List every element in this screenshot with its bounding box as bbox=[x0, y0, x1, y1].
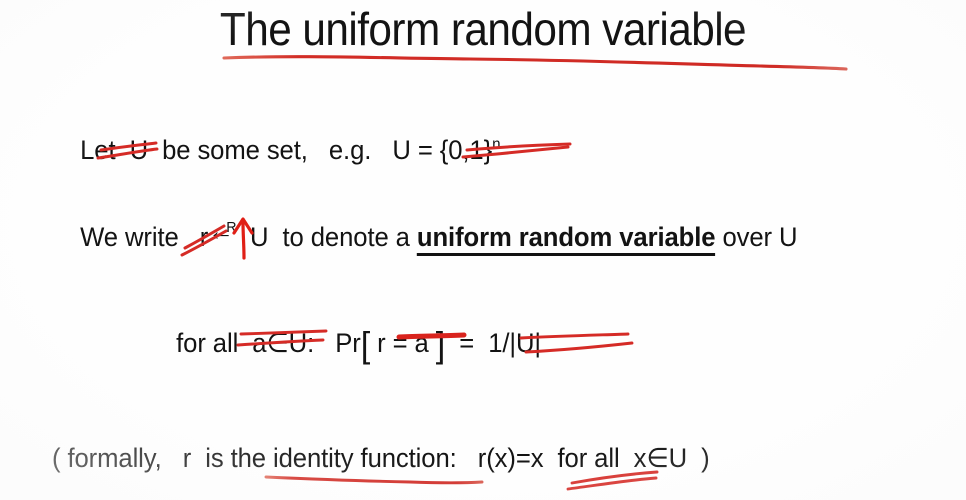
line3-value: 1/|U| bbox=[488, 328, 541, 358]
line3-probability-operator: Pr bbox=[335, 328, 360, 358]
line2-set-symbol: U bbox=[250, 222, 268, 252]
line3-event: r = a bbox=[370, 328, 436, 358]
line-we-write-r-from-u: We write r←RU to denote a uniform random… bbox=[52, 192, 797, 278]
line1-prefix: Let bbox=[80, 135, 129, 165]
line2-suffix: over U bbox=[715, 222, 797, 252]
line3-spacer bbox=[314, 328, 335, 358]
line1-set-symbol: U bbox=[130, 135, 148, 165]
line-formally-identity-function: ( formally, r is the identity function: … bbox=[52, 445, 710, 472]
arrow-superscript-label: R bbox=[226, 220, 236, 235]
bracket-close: ] bbox=[436, 324, 445, 365]
line2-prefix: We write bbox=[80, 222, 200, 252]
line2-variable: r bbox=[200, 222, 208, 252]
title-underline bbox=[224, 57, 846, 69]
rxx-double-underline bbox=[568, 472, 657, 489]
line3-equals: = bbox=[445, 328, 488, 358]
random-sampling-arrow: ←R bbox=[208, 219, 250, 246]
line2-middle: to denote a bbox=[268, 222, 416, 252]
line3-quantifier: for all a∈U: bbox=[176, 328, 314, 358]
bracket-open: [ bbox=[361, 324, 370, 365]
line-let-u-be-some-set: Let U be some set, e.g. U = {0,1}n bbox=[52, 110, 500, 191]
line1-middle: be some set, e.g. U = {0,1} bbox=[148, 135, 492, 165]
line1-exponent: n bbox=[492, 136, 500, 153]
slide-canvas: The uniform random variable Let U be som… bbox=[0, 0, 966, 500]
line-uniform-probability: for all a∈U: Pr[ r = a ] = 1/|U| bbox=[148, 300, 541, 390]
page-title: The uniform random variable bbox=[39, 6, 928, 52]
identity-function-underline bbox=[266, 477, 482, 483]
line2-emphasis: uniform random variable bbox=[417, 222, 716, 256]
